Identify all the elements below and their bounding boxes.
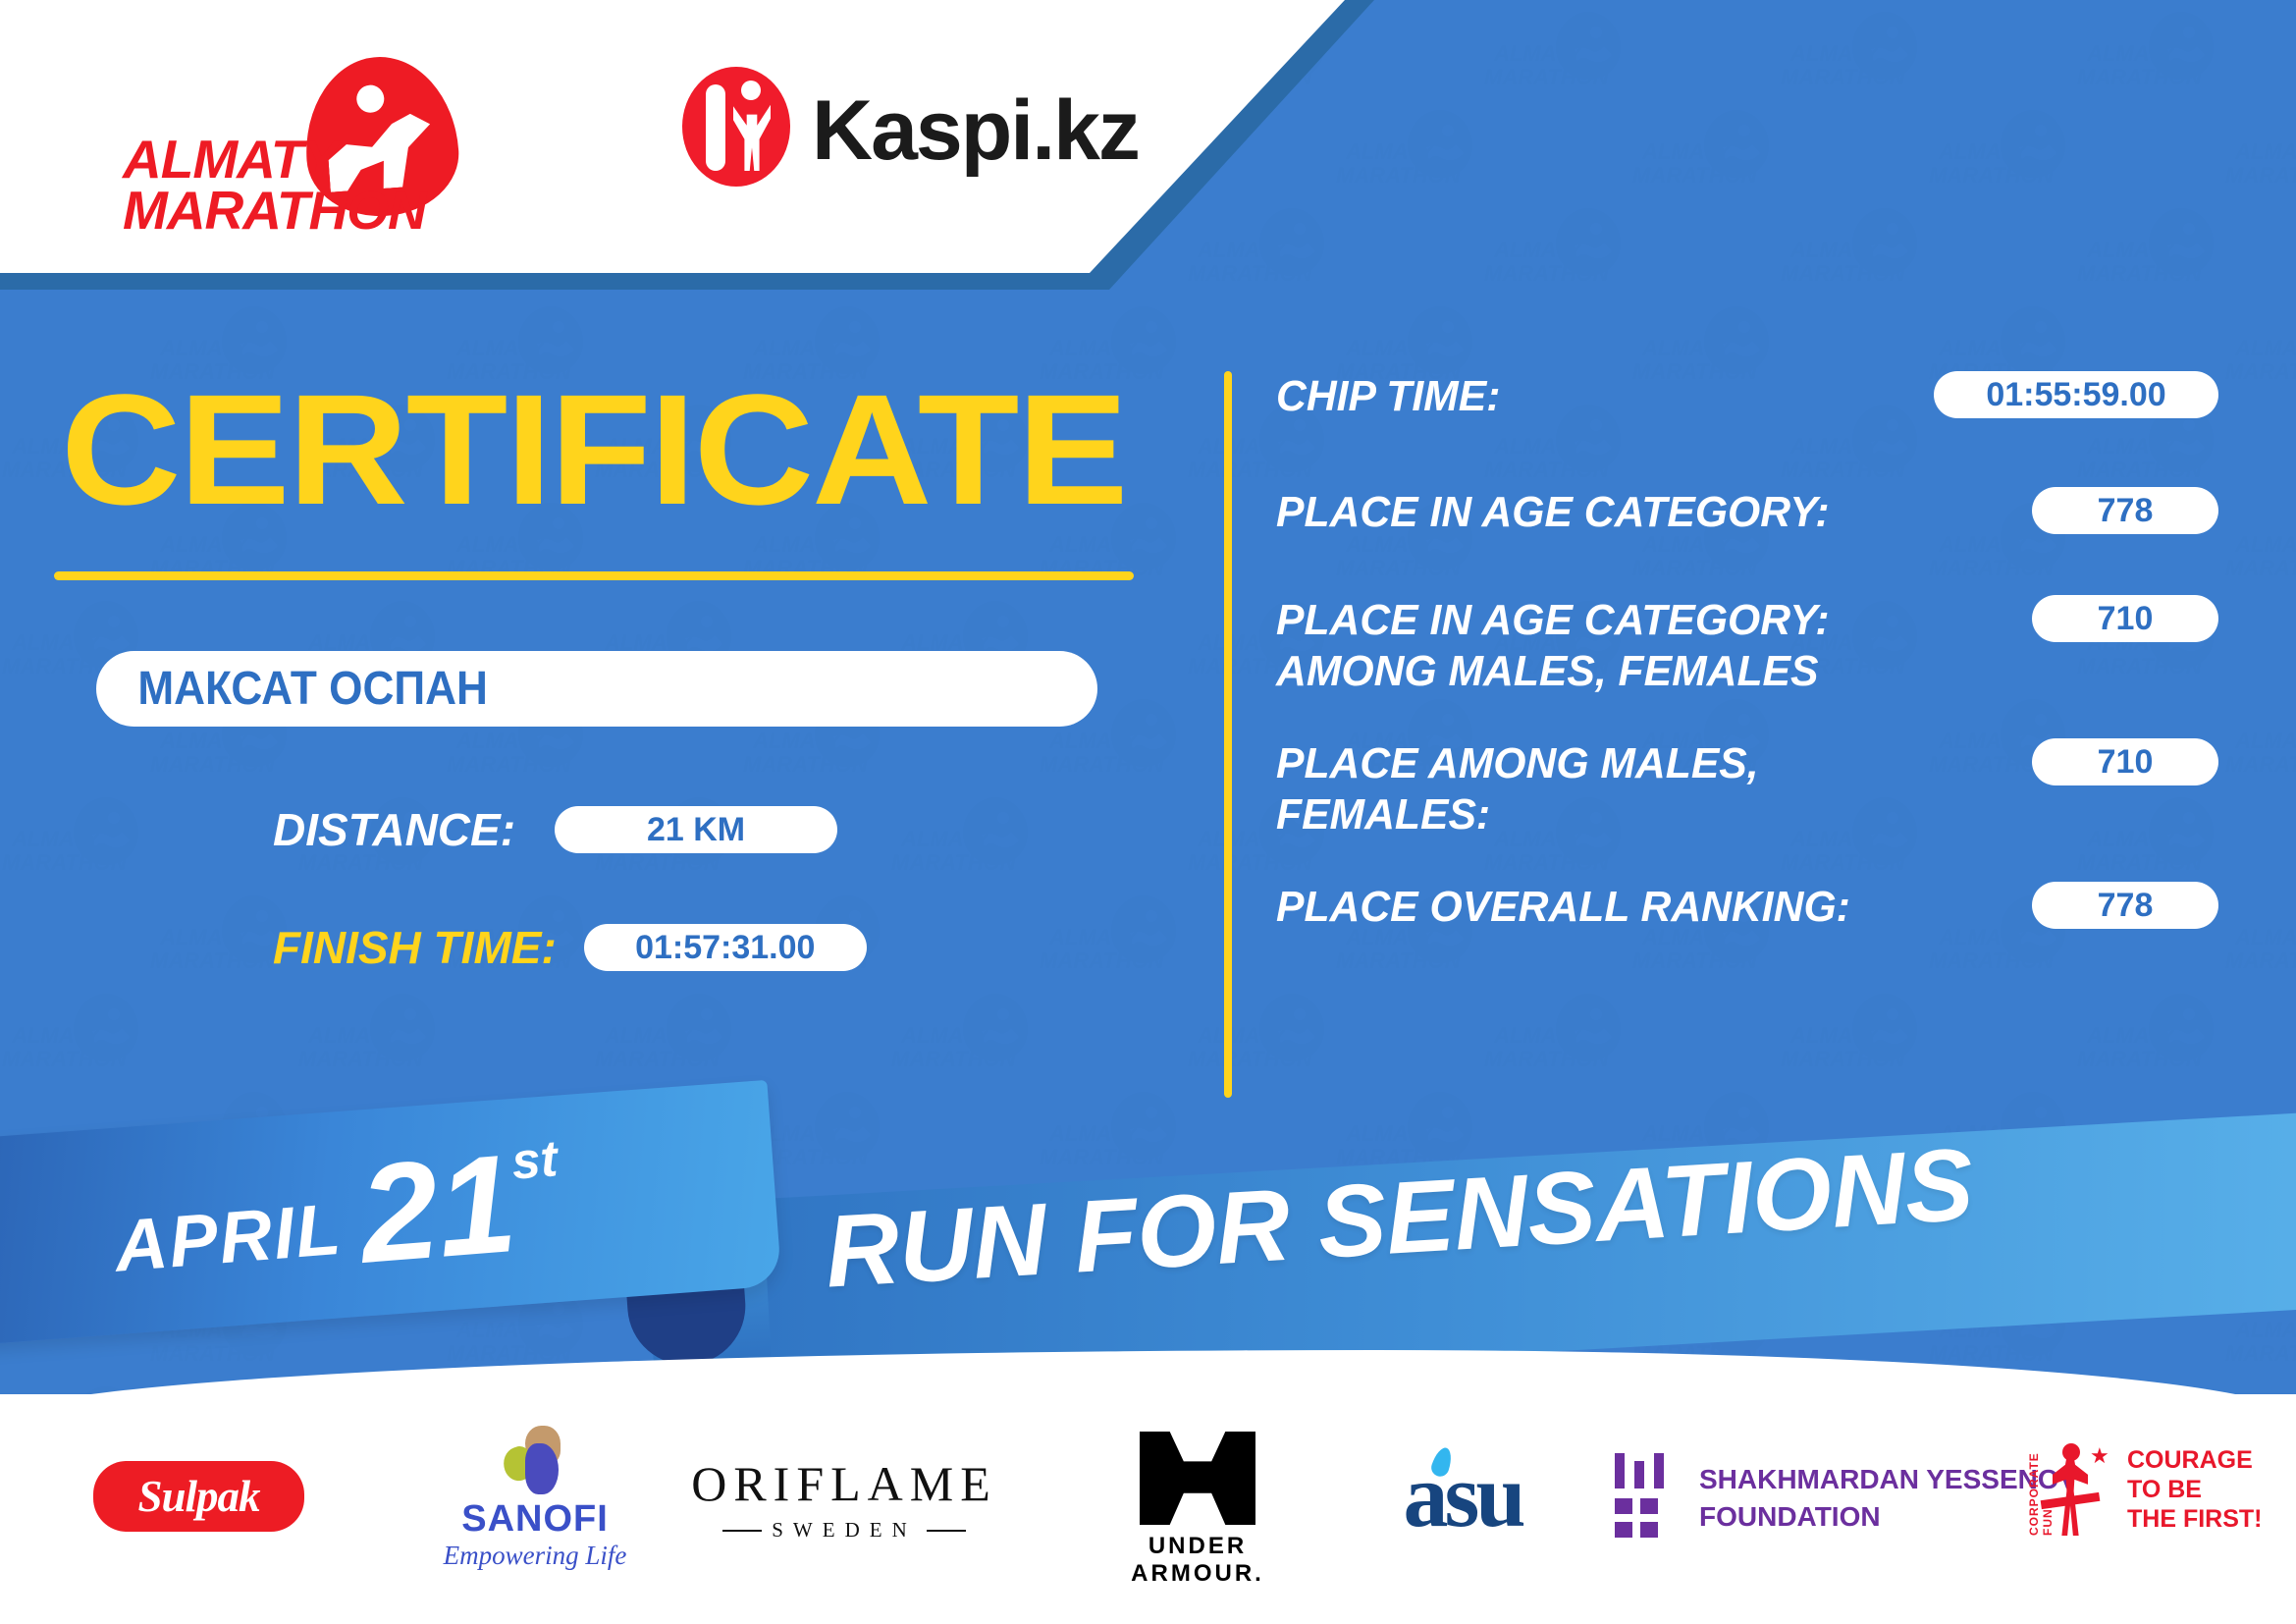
almaty-logo-line1: ALMATY <box>123 134 426 185</box>
participant-name-field: МАКСАТ ОСПАН <box>96 651 1097 727</box>
sanofi-petals-icon <box>496 1426 574 1494</box>
sponsor-oriflame: ORIFLAME SWEDEN <box>697 1455 991 1543</box>
courage-line2: TO BE <box>2127 1475 2263 1504</box>
sulpak-logo-text: Sulpak <box>93 1461 304 1532</box>
event-ribbon: APRIL 21 st RUN FOR SENSATIONS <box>0 1100 2296 1424</box>
sponsor-sulpak: Sulpak <box>93 1461 304 1532</box>
courage-arc-text: CORPORATE FUND <box>2027 1441 2056 1536</box>
yessenov-bars-icon <box>1615 1453 1674 1543</box>
under-armour-logo-text: UNDER ARMOUR. <box>1085 1533 1310 1588</box>
page-title: CERTIFICATE <box>61 376 1126 523</box>
almaty-logo-line2: MARATHON <box>123 185 426 236</box>
stat-value: 778 <box>2032 882 2218 929</box>
sponsor-sanofi: SANOFI Empowering Life <box>412 1426 658 1571</box>
yessenov-logo-line2: FOUNDATION <box>1699 1498 2077 1536</box>
event-day: 21 <box>337 1145 520 1276</box>
asu-logo-text: asu <box>1404 1443 1522 1547</box>
distance-value: 21 KM <box>555 806 837 853</box>
stat-value: 778 <box>2032 487 2218 534</box>
stat-row: CHIP TIME: 01:55:59.00 <box>1276 371 2218 422</box>
sponsor-asu: asu <box>1364 1443 1561 1547</box>
almaty-marathon-logo: ALMATY MARATHON <box>123 57 447 229</box>
stat-value: 710 <box>2032 595 2218 642</box>
stat-label: PLACE IN AGE CATEGORY: AMONG MALES, FEMA… <box>1276 595 1830 697</box>
title-underline <box>54 571 1134 580</box>
yessenov-logo-line1: SHAKHMARDAN YESSENOV <box>1699 1461 2077 1498</box>
event-month: APRIL <box>112 1187 346 1294</box>
stat-label: CHIP TIME: <box>1276 371 1500 422</box>
courage-star-icon: ★ <box>2090 1445 2109 1467</box>
under-armour-icon <box>1140 1432 1255 1525</box>
sanofi-logo-text: SANOFI <box>461 1498 609 1541</box>
distance-label: DISTANCE: <box>273 803 515 856</box>
stat-row: PLACE OVERALL RANKING: 778 <box>1276 882 2218 933</box>
finish-time-value: 01:57:31.00 <box>584 924 867 971</box>
sponsor-under-armour: UNDER ARMOUR. <box>1085 1432 1310 1588</box>
sponsor-courage-fund: CORPORATE FUND ★ COURAGE TO BE THE FIRST… <box>2027 1435 2263 1543</box>
sponsor-yessenov-foundation: SHAKHMARDAN YESSENOV FOUNDATION <box>1615 1453 2077 1543</box>
kaspi-people-icon <box>682 67 790 187</box>
courage-figure-icon: CORPORATE FUND ★ <box>2027 1435 2113 1543</box>
distance-row: DISTANCE: 21 KM <box>273 803 837 856</box>
column-divider <box>1224 371 1232 1098</box>
stat-label: PLACE IN AGE CATEGORY: <box>1276 487 1830 538</box>
certificate-page: ALMATY MARATHON Kaspi.kz CERTIFICATE МАК… <box>0 0 2296 1624</box>
finish-time-row: FINISH TIME: 01:57:31.00 <box>273 921 867 974</box>
sanofi-tagline: Empowering Life <box>444 1541 627 1571</box>
kaspi-logo: Kaspi.kz <box>682 67 1095 194</box>
stat-value: 01:55:59.00 <box>1934 371 2218 418</box>
stat-row: PLACE AMONG MALES, FEMALES: 710 <box>1276 738 2218 840</box>
participant-name-value: МАКСАТ ОСПАН <box>96 662 488 716</box>
oriflame-sub-text: SWEDEN <box>722 1518 966 1543</box>
results-stats-list: CHIP TIME: 01:55:59.00 PLACE IN AGE CATE… <box>1276 371 2218 966</box>
stat-row: PLACE IN AGE CATEGORY: AMONG MALES, FEMA… <box>1276 595 2218 697</box>
courage-line1: COURAGE <box>2127 1445 2263 1475</box>
stat-label: PLACE OVERALL RANKING: <box>1276 882 1850 933</box>
kaspi-head-shape <box>741 81 761 100</box>
kaspi-logo-text: Kaspi.kz <box>812 82 1139 180</box>
stat-row: PLACE IN AGE CATEGORY: 778 <box>1276 487 2218 538</box>
oriflame-logo-text: ORIFLAME <box>691 1455 997 1512</box>
stat-label: PLACE AMONG MALES, FEMALES: <box>1276 738 1759 840</box>
finish-time-label: FINISH TIME: <box>273 921 557 974</box>
stat-value: 710 <box>2032 738 2218 785</box>
sponsor-bar: Sulpak SANOFI Empowering Life ORIFLAME S… <box>0 1414 2296 1624</box>
courage-line3: THE FIRST! <box>2127 1504 2263 1534</box>
